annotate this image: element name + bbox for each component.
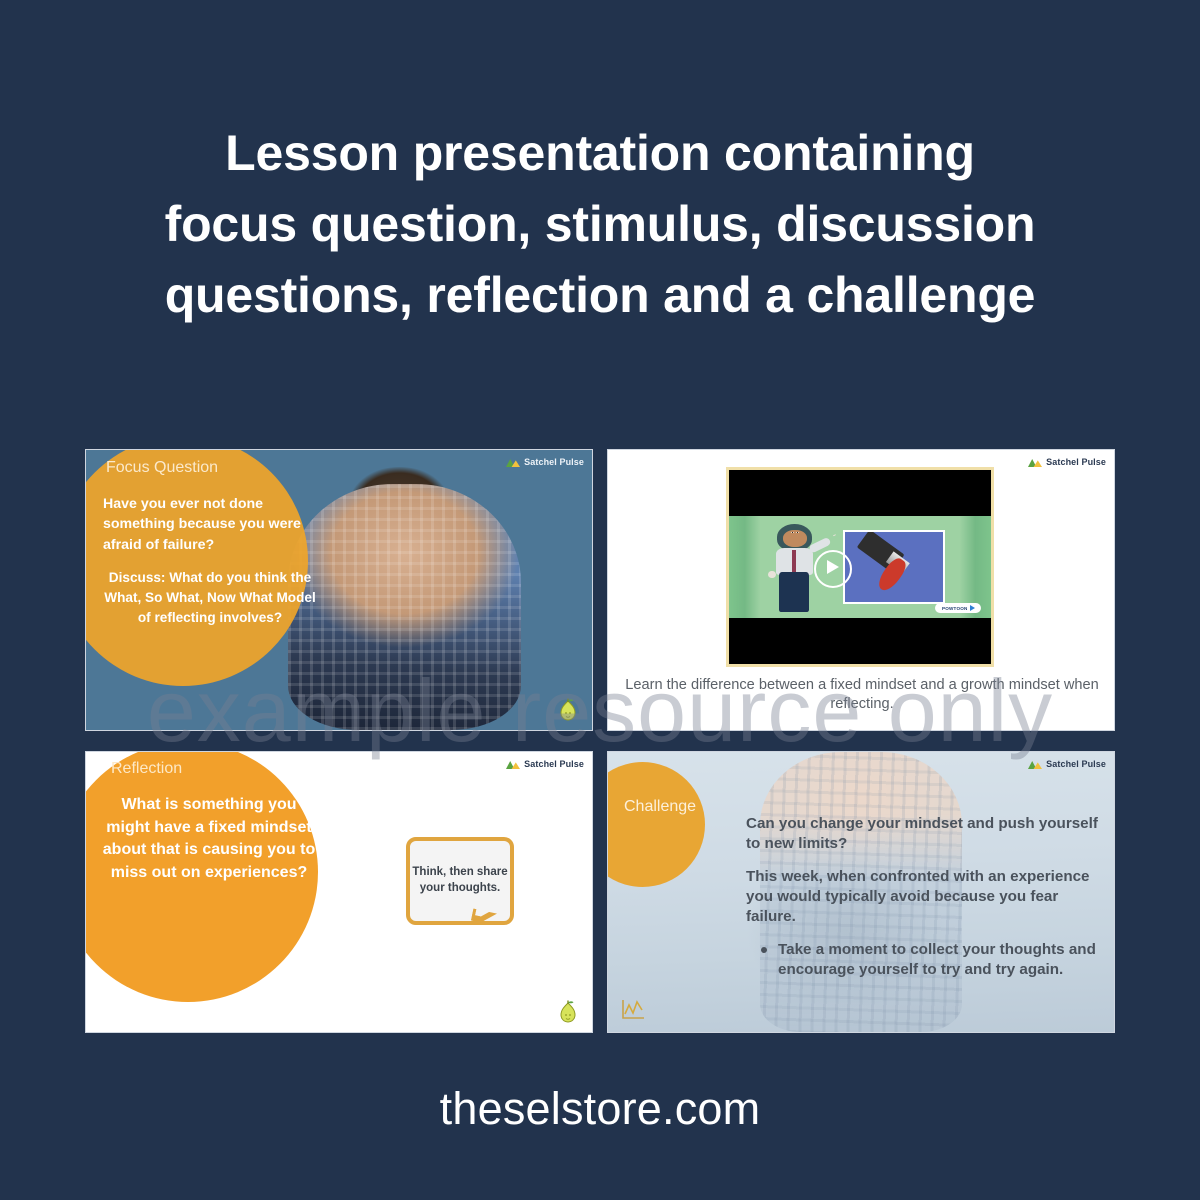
satchel-pulse-logo: Satchel Pulse bbox=[1028, 759, 1106, 769]
photo-detail-watch bbox=[422, 523, 449, 551]
slide-focus-question[interactable]: Focus Question Have you ever not done so… bbox=[85, 449, 593, 731]
slide-stimulus-video-content: POWTOON Learn the difference between a f… bbox=[608, 450, 1114, 730]
footer-website-url: theselstore.com bbox=[0, 1083, 1200, 1135]
challenge-paragraph-2: This week, when confronted with an exper… bbox=[746, 867, 1106, 927]
satchel-pulse-logo-text: Satchel Pulse bbox=[1046, 457, 1106, 467]
slide-stimulus-video[interactable]: POWTOON Learn the difference between a f… bbox=[607, 449, 1115, 731]
photo-detail-hair bbox=[349, 467, 450, 529]
pear-icon bbox=[558, 1000, 578, 1024]
speech-bubble: Think, then share your thoughts. bbox=[406, 837, 514, 925]
satchel-pulse-logo: Satchel Pulse bbox=[1028, 457, 1106, 467]
figure-legs bbox=[779, 572, 808, 612]
figure-hand bbox=[832, 534, 835, 536]
powtoon-watermark-text: POWTOON bbox=[942, 606, 968, 611]
slide-reflection-content: Reflection What is something you might h… bbox=[86, 752, 592, 1032]
slide-label-focus-question: Focus Question bbox=[106, 459, 218, 477]
slide-thumbnail-grid: Focus Question Have you ever not done so… bbox=[85, 449, 1115, 1033]
page-title: Lesson presentation containing focus que… bbox=[60, 118, 1140, 331]
two-mountains-icon bbox=[1028, 458, 1042, 467]
slide-challenge[interactable]: Challenge Can you change your mindset an… bbox=[607, 751, 1115, 1033]
figure-tie bbox=[792, 550, 796, 574]
pear-icon bbox=[558, 698, 578, 722]
video-player[interactable]: POWTOON bbox=[726, 467, 994, 667]
challenge-bullet-item: Take a moment to collect your thoughts a… bbox=[778, 940, 1106, 980]
satchel-pulse-logo-text: Satchel Pulse bbox=[524, 457, 584, 467]
challenge-paragraph-1: Can you change your mindset and push you… bbox=[746, 814, 1106, 854]
slide-label-reflection: Reflection bbox=[111, 760, 182, 778]
speech-bubble-tail bbox=[471, 909, 497, 926]
play-button-icon[interactable] bbox=[814, 550, 852, 588]
stimulus-caption: Learn the difference between a fixed min… bbox=[618, 676, 1106, 713]
figure-eye-left bbox=[791, 532, 794, 533]
slide-label-challenge: Challenge bbox=[624, 798, 696, 816]
two-mountains-icon bbox=[506, 458, 520, 467]
page-title-line-1: Lesson presentation containing bbox=[60, 118, 1140, 189]
satchel-pulse-logo: Satchel Pulse bbox=[506, 457, 584, 467]
focus-question-text: Have you ever not done something because… bbox=[103, 494, 313, 555]
slide-challenge-content: Challenge Can you change your mindset an… bbox=[608, 752, 1114, 1032]
slide-focus-question-content: Focus Question Have you ever not done so… bbox=[86, 450, 592, 730]
two-mountains-icon bbox=[1028, 760, 1042, 769]
two-mountains-icon bbox=[506, 760, 520, 769]
slide-reflection[interactable]: Reflection What is something you might h… bbox=[85, 751, 593, 1033]
satchel-pulse-logo-text: Satchel Pulse bbox=[1046, 759, 1106, 769]
figure-eye-right bbox=[796, 532, 799, 533]
powtoon-watermark: POWTOON bbox=[935, 603, 981, 613]
page-title-line-3: questions, reflection and a challenge bbox=[60, 260, 1140, 331]
video-stage: POWTOON bbox=[729, 516, 991, 619]
page-title-line-2: focus question, stimulus, discussion bbox=[60, 189, 1140, 260]
figure-face bbox=[783, 530, 807, 547]
powtoon-arrow-icon bbox=[970, 605, 975, 611]
animated-presenter-figure bbox=[771, 524, 818, 614]
figure-hand-lower bbox=[768, 571, 776, 578]
challenge-body: Can you change your mindset and push you… bbox=[746, 814, 1106, 980]
reflection-question-text: What is something you might have a fixed… bbox=[98, 794, 320, 885]
challenge-bullet-list: Take a moment to collect your thoughts a… bbox=[746, 940, 1106, 980]
satchel-pulse-logo: Satchel Pulse bbox=[506, 759, 584, 769]
focus-discuss-text: Discuss: What do you think the What, So … bbox=[103, 568, 317, 628]
video-thumbnail-panel bbox=[843, 530, 945, 604]
satchel-pulse-logo-text: Satchel Pulse bbox=[524, 759, 584, 769]
line-chart-icon bbox=[620, 998, 646, 1022]
speech-bubble-text: Think, then share your thoughts. bbox=[410, 865, 510, 896]
